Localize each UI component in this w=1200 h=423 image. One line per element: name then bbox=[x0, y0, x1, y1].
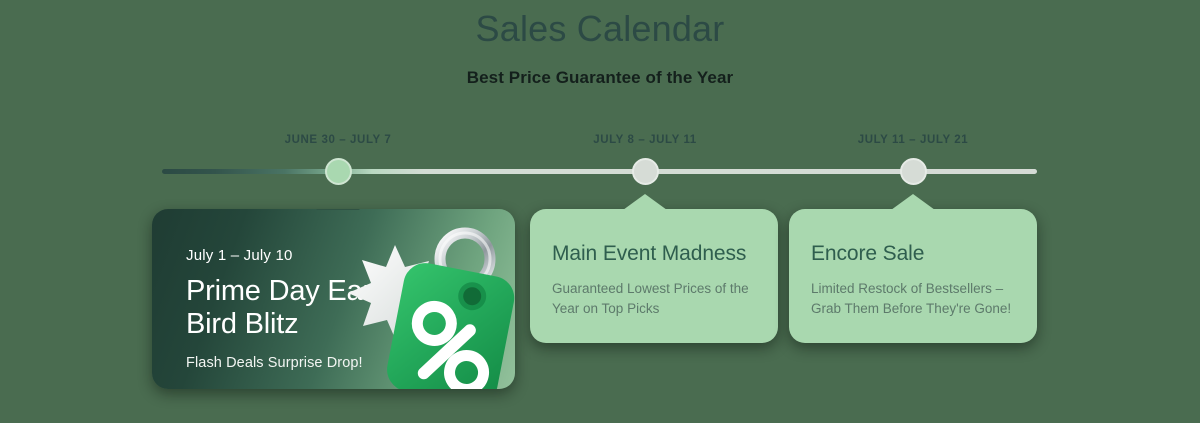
featured-card-content: July 1 – July 10 Prime Day Early Bird Bl… bbox=[152, 209, 515, 371]
page-subtitle: Best Price Guarantee of the Year bbox=[0, 68, 1200, 88]
event-card-featured[interactable]: July 1 – July 10 Prime Day Early Bird Bl… bbox=[152, 209, 515, 389]
event-card-third[interactable]: Encore Sale Limited Restock of Bestselle… bbox=[789, 209, 1037, 343]
featured-card-date: July 1 – July 10 bbox=[186, 247, 515, 264]
event-cards: July 1 – July 10 Prime Day Early Bird Bl… bbox=[0, 201, 1200, 411]
second-card-description: Guaranteed Lowest Prices of the Year on … bbox=[552, 279, 756, 318]
page-header: Sales Calendar Best Price Guarantee of t… bbox=[0, 0, 1200, 88]
event-card-second[interactable]: Main Event Madness Guaranteed Lowest Pri… bbox=[530, 209, 778, 343]
timeline-dot-3[interactable] bbox=[900, 158, 927, 185]
timeline: JUNE 30 – JULY 7 JULY 8 – JULY 11 JULY 1… bbox=[162, 164, 1037, 178]
second-card-content: Main Event Madness Guaranteed Lowest Pri… bbox=[530, 209, 778, 318]
third-card-title: Encore Sale bbox=[811, 241, 1015, 266]
featured-card-title: Prime Day Early Bird Blitz bbox=[186, 275, 416, 341]
timeline-label-1: JUNE 30 – JULY 7 bbox=[285, 134, 392, 146]
card-notch-third bbox=[891, 194, 935, 210]
third-card-description: Limited Restock of Bestsellers – Grab Th… bbox=[811, 279, 1015, 318]
featured-card-subtitle: Flash Deals Surprise Drop! bbox=[186, 355, 515, 371]
timeline-label-3: JULY 11 – JULY 21 bbox=[858, 134, 969, 146]
third-card-content: Encore Sale Limited Restock of Bestselle… bbox=[789, 209, 1037, 318]
timeline-dot-1[interactable] bbox=[325, 158, 352, 185]
card-notch-second bbox=[623, 194, 667, 210]
second-card-title: Main Event Madness bbox=[552, 241, 756, 266]
timeline-label-2: JULY 8 – JULY 11 bbox=[593, 134, 697, 146]
page-title: Sales Calendar bbox=[0, 6, 1200, 51]
timeline-dot-2[interactable] bbox=[632, 158, 659, 185]
